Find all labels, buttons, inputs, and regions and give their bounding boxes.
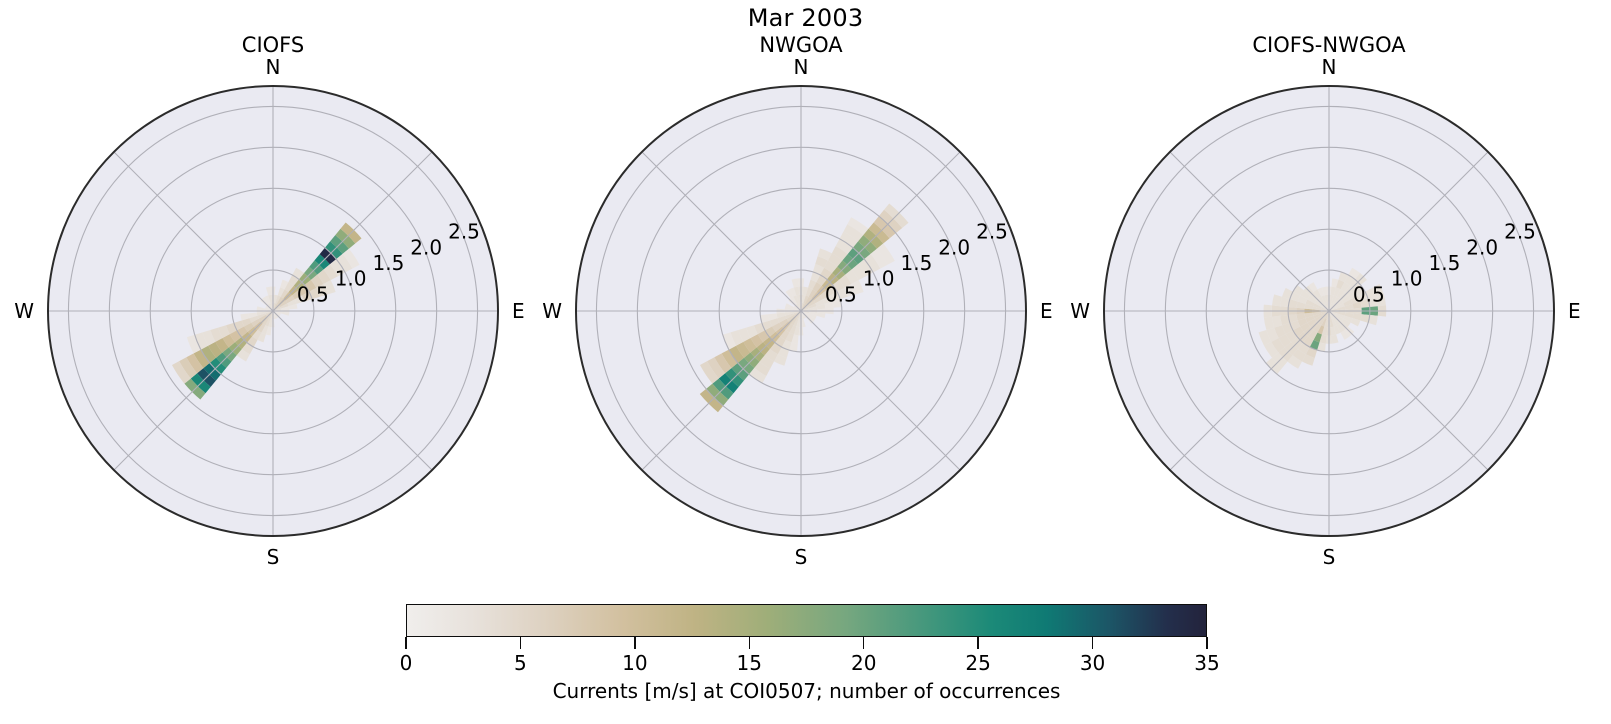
colorbar-tick (520, 637, 521, 649)
polar-grid (576, 86, 1026, 536)
radial-tick-label: 2.0 (938, 235, 970, 259)
radial-tick-label: 1.0 (863, 267, 895, 291)
radial-tick-label: 0.5 (825, 282, 857, 306)
radial-tick-label: 2.5 (1504, 220, 1536, 244)
colorbar-tick-label: 30 (1080, 651, 1105, 675)
radial-tick-label: 2.5 (976, 220, 1008, 244)
colorbar-tick-label: 15 (737, 651, 762, 675)
cardinal-label-e: E (1568, 299, 1581, 323)
colorbar-gradient (406, 604, 1207, 637)
panel-title-ciofs-nwgoa: CIOFS-NWGOA (1068, 33, 1590, 57)
radial-tick-label: 1.0 (335, 267, 367, 291)
colorbar-tick-label: 20 (851, 651, 876, 675)
cardinal-label-s: S (1323, 545, 1336, 569)
polar-axes-nwgoa: NESW0.51.01.52.02.5 (540, 0, 1062, 575)
panel-title-nwgoa: NWGOA (540, 33, 1062, 57)
panel-title-ciofs: CIOFS (12, 33, 534, 57)
colorbar-tick (1092, 637, 1093, 649)
colorbar-tick-label: 35 (1194, 651, 1219, 675)
polar-panel-ciofs: CIOFS NESW0.51.01.52.02.5 (12, 0, 534, 575)
polar-axes-ciofs: NESW0.51.01.52.02.5 (12, 0, 534, 575)
colorbar-tick (1206, 637, 1207, 649)
colorbar-axis-label: Currents [m/s] at COI0507; number of occ… (406, 679, 1207, 703)
colorbar-tick-label: 10 (622, 651, 647, 675)
polar-grid (1104, 86, 1554, 536)
polar-panel-nwgoa: NWGOA NESW0.51.01.52.02.5 (540, 0, 1062, 575)
radial-tick-label: 1.5 (1428, 251, 1460, 275)
radial-tick-label: 0.5 (1353, 282, 1385, 306)
colorbar-tick (405, 637, 406, 649)
radial-tick-label: 1.0 (1391, 267, 1423, 291)
colorbar-tick (977, 637, 978, 649)
colorbar-tick (749, 637, 750, 649)
radial-tick-label: 1.5 (372, 251, 404, 275)
colorbar-tick (863, 637, 864, 649)
polar-axes-ciofs-nwgoa: NESW0.51.01.52.02.5 (1068, 0, 1590, 575)
radial-tick-label: 2.5 (448, 220, 480, 244)
cardinal-label-n: N (1322, 55, 1337, 79)
radial-tick-label: 0.5 (297, 282, 329, 306)
cardinal-label-w: W (1070, 299, 1090, 323)
cardinal-label-s: S (795, 545, 808, 569)
cardinal-label-n: N (794, 55, 809, 79)
radial-tick-label: 1.5 (900, 251, 932, 275)
colorbar-tick-labels: 05101520253035 (406, 637, 1207, 671)
cardinal-label-w: W (542, 299, 562, 323)
cardinal-label-w: W (14, 299, 34, 323)
polar-grid (48, 86, 498, 536)
figure-canvas: Mar 2003 CIOFS NESW0.51.01.52.02.5 NWGOA… (0, 0, 1611, 724)
polar-panel-ciofs-nwgoa: CIOFS-NWGOA NESW0.51.01.52.02.5 (1068, 0, 1590, 575)
cardinal-label-s: S (267, 545, 280, 569)
radial-tick-label: 2.0 (410, 235, 442, 259)
colorbar-tick-label: 25 (965, 651, 990, 675)
cardinal-label-e: E (1040, 299, 1053, 323)
colorbar-tick-label: 5 (514, 651, 527, 675)
cardinal-label-e: E (512, 299, 525, 323)
colorbar-tick-label: 0 (400, 651, 413, 675)
colorbar-tick (634, 637, 635, 649)
colorbar: 05101520253035 Currents [m/s] at COI0507… (406, 604, 1207, 637)
radial-tick-label: 2.0 (1466, 235, 1498, 259)
cardinal-label-n: N (266, 55, 281, 79)
